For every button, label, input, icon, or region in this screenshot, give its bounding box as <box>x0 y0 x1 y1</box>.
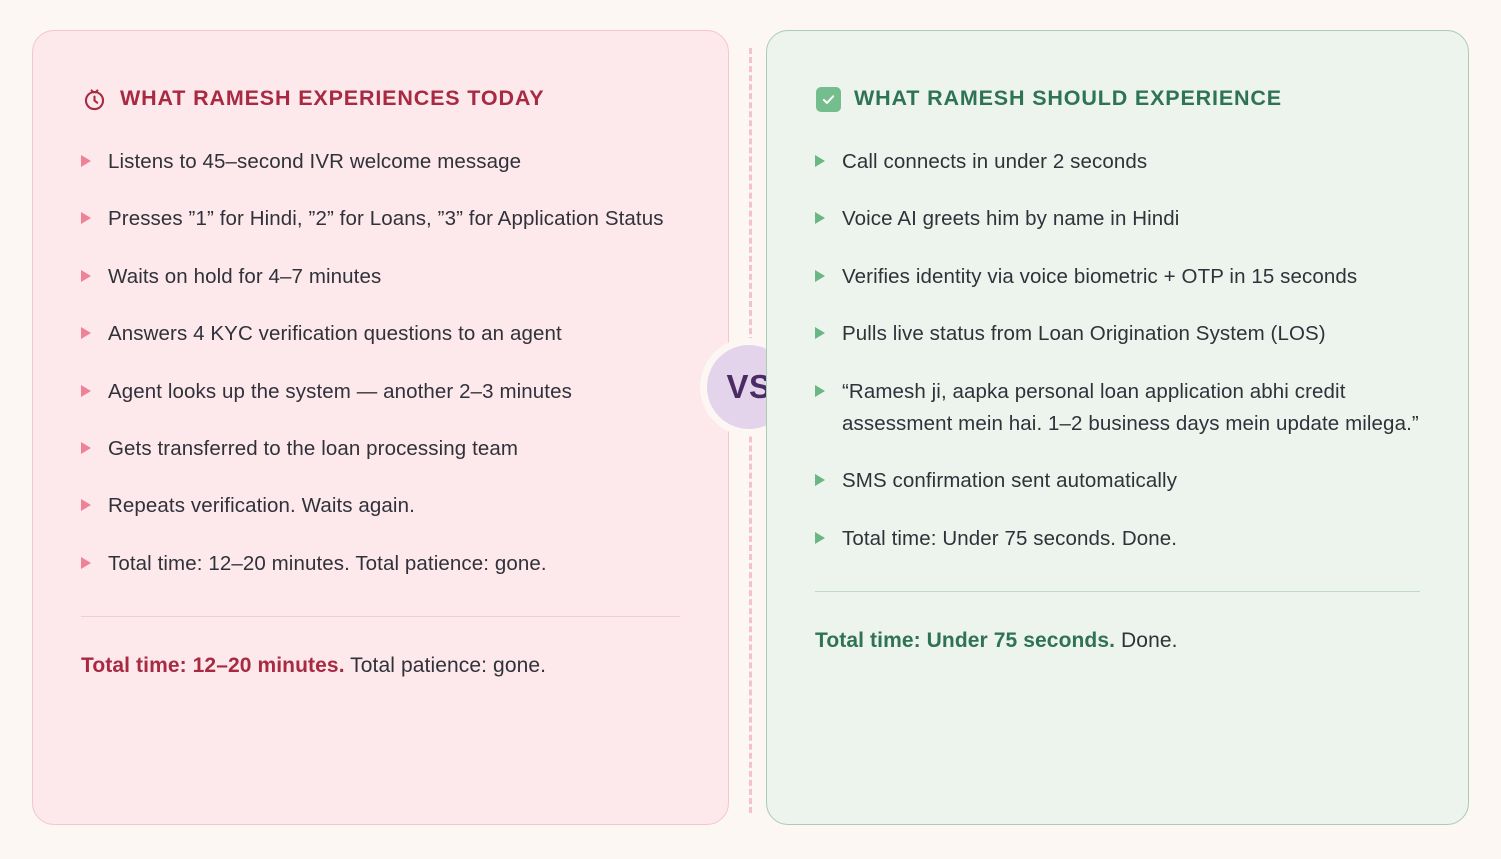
triangle-bullet-icon <box>81 385 91 397</box>
left-summary-strong: Total time: 12–20 minutes. <box>81 654 345 677</box>
right-summary-strong: Total time: Under 75 seconds. <box>815 629 1115 652</box>
check-square-icon <box>815 86 841 112</box>
list-item: Total time: Under 75 seconds. Done. <box>815 523 1420 555</box>
triangle-bullet-icon <box>81 557 91 569</box>
triangle-bullet-icon <box>81 212 91 224</box>
list-item: Call connects in under 2 seconds <box>815 146 1420 178</box>
list-item-text: Pulls live status from Loan Origination … <box>842 318 1326 350</box>
triangle-bullet-icon <box>815 212 825 224</box>
list-item-text: Presses ”1” for Hindi, ”2” for Loans, ”3… <box>108 203 664 235</box>
triangle-bullet-icon <box>81 270 91 282</box>
left-panel-summary: Total time: 12–20 minutes. Total patienc… <box>81 651 680 681</box>
triangle-bullet-icon <box>815 532 825 544</box>
list-item: SMS confirmation sent automatically <box>815 465 1420 497</box>
right-panel-header: WHAT RAMESH SHOULD EXPERIENCE <box>815 86 1420 112</box>
list-item-text: Total time: 12–20 minutes. Total patienc… <box>108 548 547 580</box>
left-panel-current-experience: WHAT RAMESH EXPERIENCES TODAY Listens to… <box>32 30 729 825</box>
right-panel-list: Call connects in under 2 seconds Voice A… <box>815 146 1420 555</box>
list-item-text: Listens to 45–second IVR welcome message <box>108 146 521 178</box>
left-panel-list: Listens to 45–second IVR welcome message… <box>81 146 680 580</box>
right-panel-ideal-experience: WHAT RAMESH SHOULD EXPERIENCE Call conne… <box>766 30 1469 825</box>
list-item: Voice AI greets him by name in Hindi <box>815 203 1420 235</box>
list-item: Waits on hold for 4–7 minutes <box>81 261 680 293</box>
list-item-text: Repeats verification. Waits again. <box>108 490 415 522</box>
right-summary-rest: Done. <box>1115 629 1177 652</box>
list-item-text: Waits on hold for 4–7 minutes <box>108 261 381 293</box>
right-panel-summary: Total time: Under 75 seconds. Done. <box>815 626 1420 656</box>
right-panel-title: WHAT RAMESH SHOULD EXPERIENCE <box>854 88 1282 110</box>
list-item-text: Gets transferred to the loan processing … <box>108 433 518 465</box>
list-item: Repeats verification. Waits again. <box>81 490 680 522</box>
triangle-bullet-icon <box>81 499 91 511</box>
list-item: Agent looks up the system — another 2–3 … <box>81 376 680 408</box>
comparison-infographic: WHAT RAMESH EXPERIENCES TODAY Listens to… <box>0 0 1501 859</box>
list-item-text: SMS confirmation sent automatically <box>842 465 1177 497</box>
triangle-bullet-icon <box>815 270 825 282</box>
triangle-bullet-icon <box>81 155 91 167</box>
list-item-text: Answers 4 KYC verification questions to … <box>108 318 562 350</box>
left-panel-title: WHAT RAMESH EXPERIENCES TODAY <box>120 88 544 110</box>
list-item-text: Voice AI greets him by name in Hindi <box>842 203 1179 235</box>
list-item: Gets transferred to the loan processing … <box>81 433 680 465</box>
list-item: Verifies identity via voice biometric + … <box>815 261 1420 293</box>
list-item-text: Verifies identity via voice biometric + … <box>842 261 1357 293</box>
right-panel-divider <box>815 591 1420 592</box>
list-item: Presses ”1” for Hindi, ”2” for Loans, ”3… <box>81 203 680 235</box>
list-item: Pulls live status from Loan Origination … <box>815 318 1420 350</box>
list-item-text: Total time: Under 75 seconds. Done. <box>842 523 1177 555</box>
left-summary-rest: Total patience: gone. <box>345 654 546 677</box>
left-panel-header: WHAT RAMESH EXPERIENCES TODAY <box>81 86 680 112</box>
list-item: Answers 4 KYC verification questions to … <box>81 318 680 350</box>
list-item: Total time: 12–20 minutes. Total patienc… <box>81 548 680 580</box>
triangle-bullet-icon <box>81 442 91 454</box>
list-item-text: “Ramesh ji, aapka personal loan applicat… <box>842 376 1420 441</box>
clock-icon <box>81 86 107 112</box>
triangle-bullet-icon <box>815 474 825 486</box>
triangle-bullet-icon <box>81 327 91 339</box>
triangle-bullet-icon <box>815 155 825 167</box>
triangle-bullet-icon <box>815 385 825 397</box>
list-item: “Ramesh ji, aapka personal loan applicat… <box>815 376 1420 441</box>
left-panel-divider <box>81 616 680 617</box>
triangle-bullet-icon <box>815 327 825 339</box>
list-item-text: Agent looks up the system — another 2–3 … <box>108 376 572 408</box>
list-item: Listens to 45–second IVR welcome message <box>81 146 680 178</box>
list-item-text: Call connects in under 2 seconds <box>842 146 1147 178</box>
